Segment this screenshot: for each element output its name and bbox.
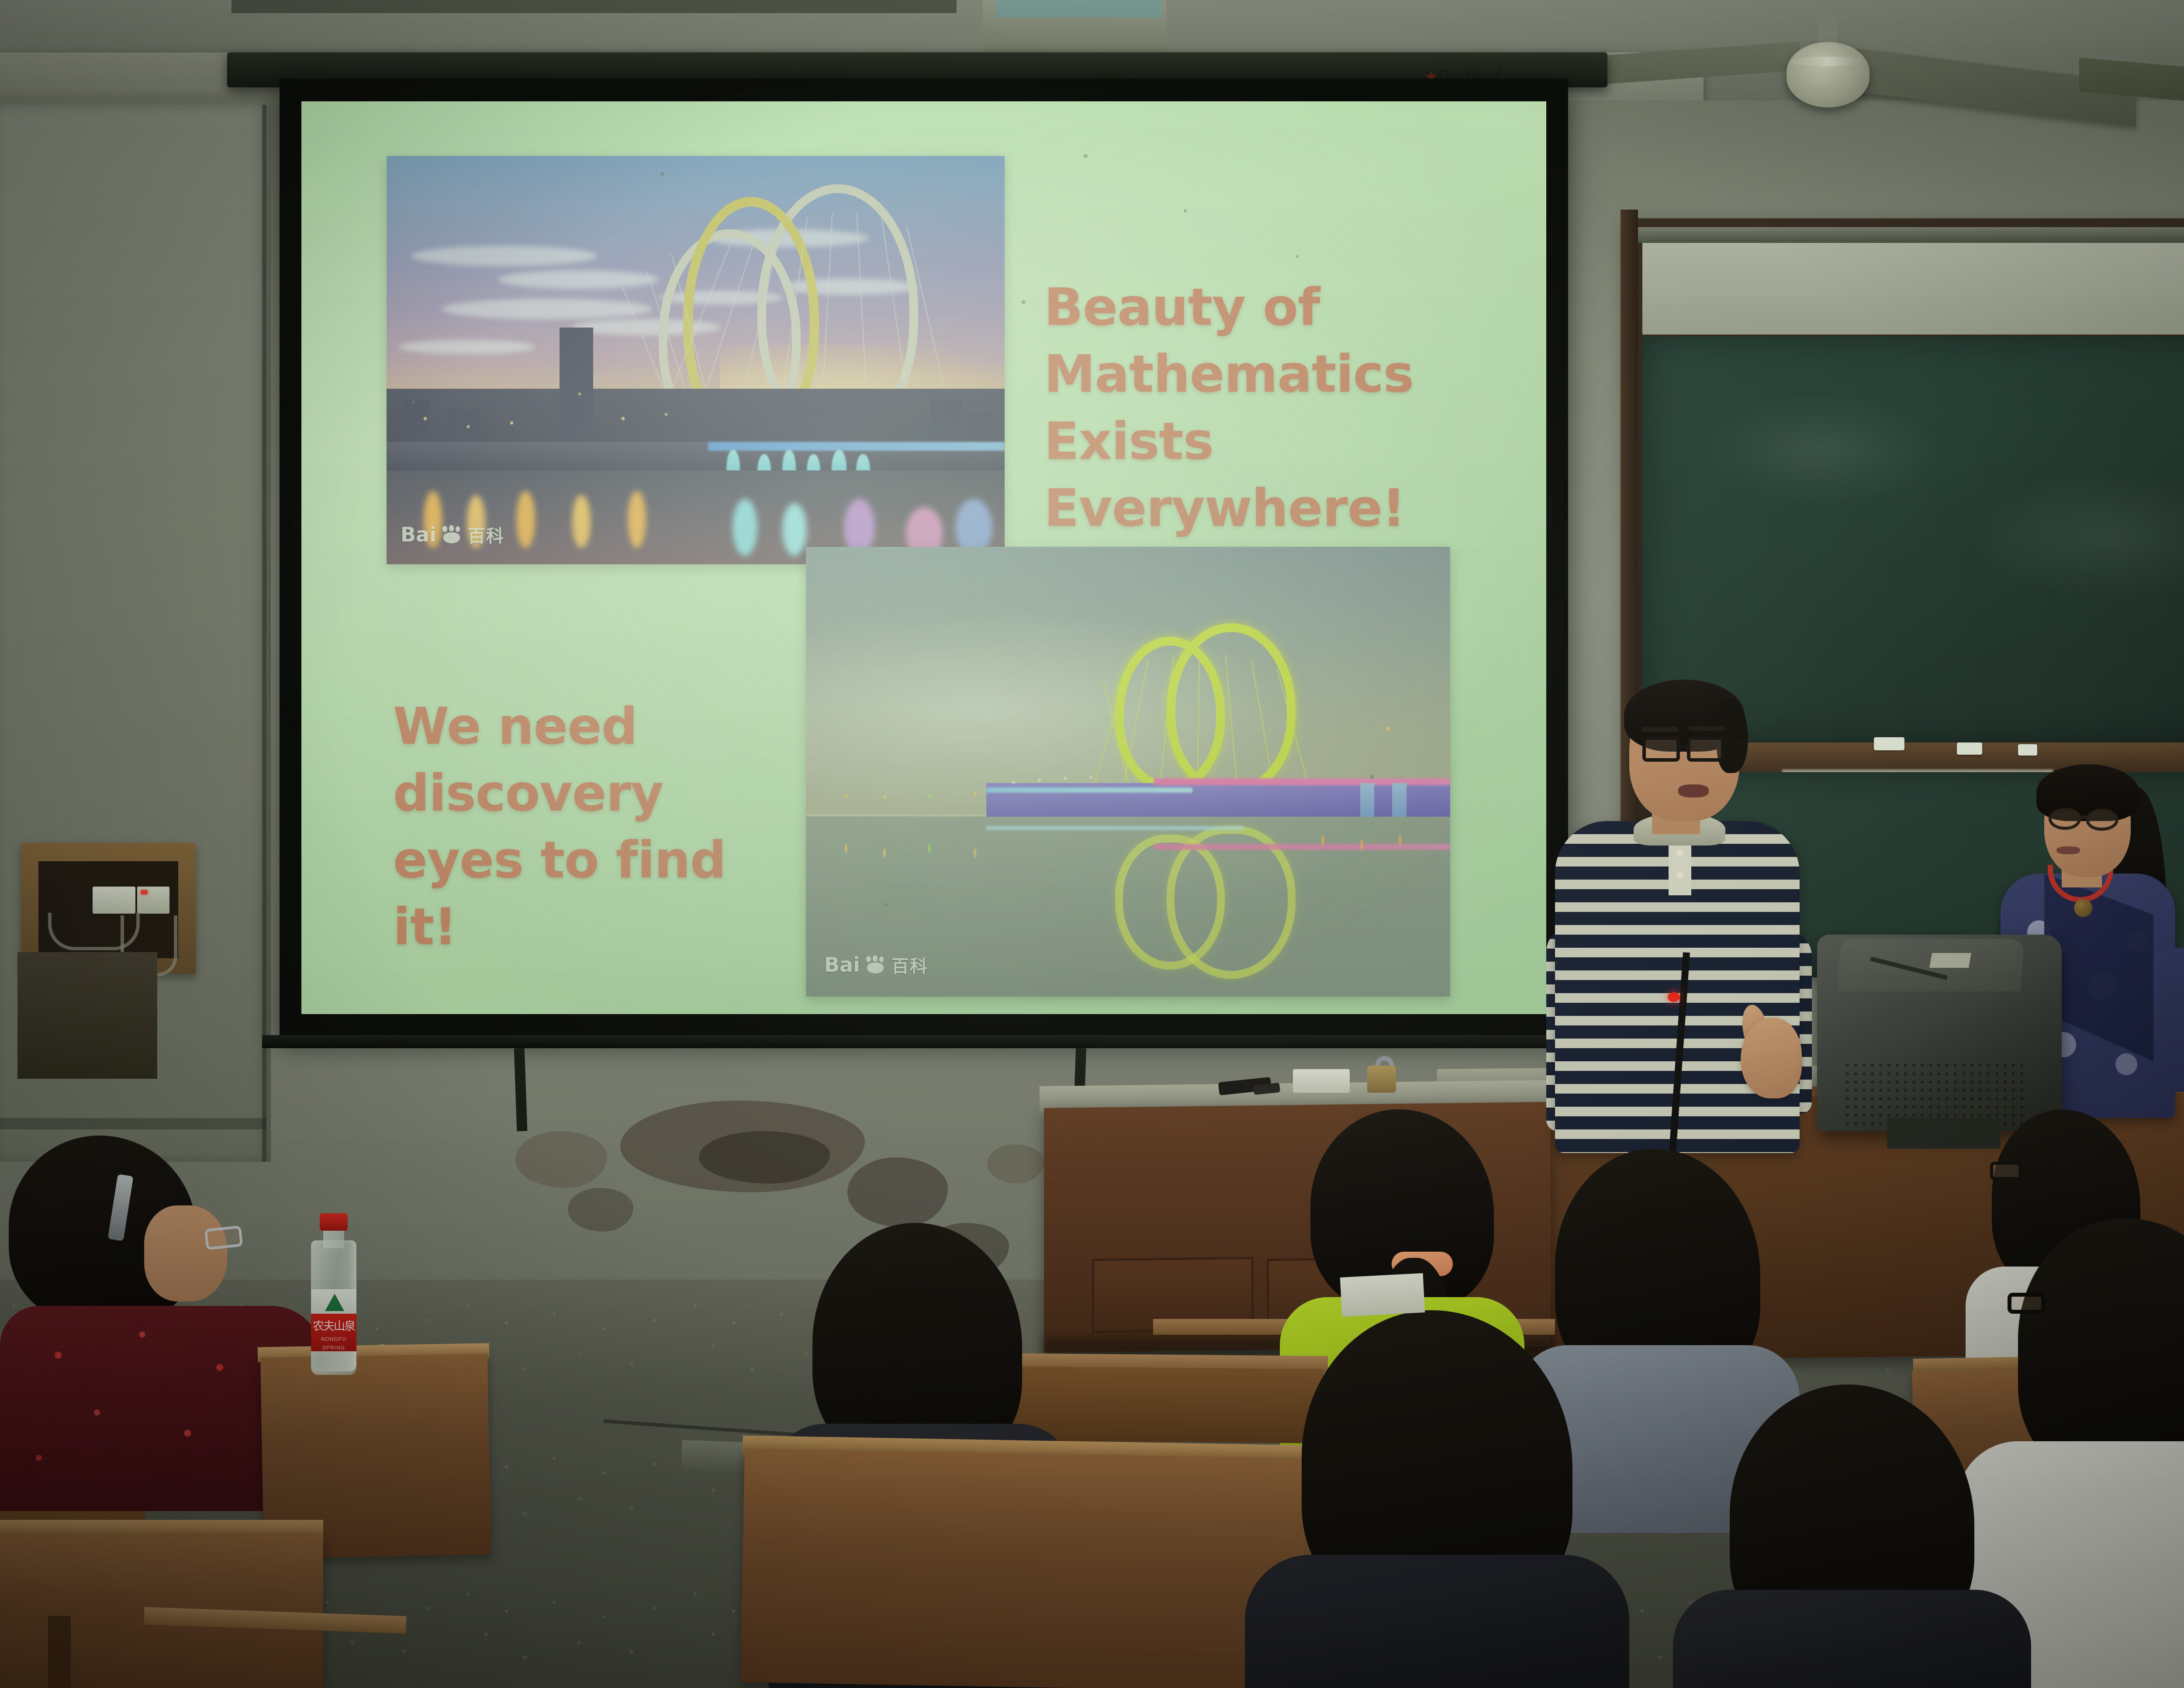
- water-reflection: [424, 491, 442, 548]
- skyline-building: [968, 413, 992, 450]
- bridge-arch-yellow: [683, 197, 819, 442]
- cable-stay: [671, 254, 718, 436]
- polo-button: [1676, 849, 1683, 856]
- slide-subtitle: We need discovery eyes to find it!: [393, 693, 738, 960]
- ceiling-duct-accent: [996, 0, 1162, 17]
- electrical-panel-lower: [17, 952, 157, 1079]
- deck-pink-light: [1154, 778, 1451, 785]
- deck-reflection: [986, 826, 1244, 830]
- glasses-lens-left: [2049, 808, 2081, 830]
- water-reflection: [974, 848, 976, 858]
- chalk-smudge: [1699, 393, 1944, 507]
- bridge-loop-right: [1167, 623, 1296, 794]
- standing-woman-arm: [2153, 948, 2184, 1092]
- photo2-horizon: [806, 815, 1450, 816]
- water-reflection: [572, 495, 591, 548]
- slide-title-line: Beauty of: [1044, 274, 1489, 341]
- slide-photo-dusk-bridge: Bai 百科: [387, 156, 1005, 564]
- switch-indicator-led: [141, 890, 148, 894]
- glasses-bridge: [1680, 745, 1688, 749]
- cable-stay: [1121, 659, 1149, 796]
- water-reflection: [844, 499, 875, 556]
- deck-light: [1089, 776, 1092, 779]
- presenter-eyebrow-left: [1641, 727, 1678, 732]
- cable-stay: [1196, 650, 1200, 799]
- ceiling-fan-ring: [1790, 57, 1866, 66]
- peeling-plaster-patch: [568, 1188, 633, 1232]
- chalk-piece[interactable]: [1874, 737, 1904, 750]
- bridge-loop-left: [1115, 637, 1225, 790]
- water-reflection: [1321, 835, 1324, 846]
- chalk-piece[interactable]: [2018, 744, 2037, 756]
- crt-monitor-vent: [1843, 1061, 2027, 1127]
- power-socket[interactable]: [93, 887, 135, 914]
- glasses-lens-right: [1687, 736, 1724, 762]
- standing-woman-mouth: [2056, 846, 2080, 854]
- cable-stay: [646, 270, 700, 433]
- paper-on-floor: [1340, 1273, 1425, 1317]
- bridge-loop-reflection: [1167, 826, 1296, 979]
- paw-icon: [441, 525, 463, 544]
- cable-stay: [1091, 663, 1129, 794]
- bridge-pylon: [1392, 783, 1406, 817]
- photo1-skyline: [387, 389, 1005, 479]
- city-light: [622, 417, 625, 420]
- slide-dust-specks: [301, 101, 1546, 1014]
- cable-stay: [1225, 655, 1239, 798]
- deck-light: [1038, 779, 1041, 782]
- cable-stay: [906, 225, 958, 445]
- pier-uplight: [856, 454, 870, 491]
- wall-corner-edge: [262, 105, 266, 1162]
- bridge-deck-lights: [708, 442, 1005, 451]
- wall-ledge: [0, 1118, 266, 1129]
- slide-title-line: Mathematics: [1044, 341, 1489, 407]
- peeling-plaster-patch: [987, 1144, 1044, 1184]
- desk-leg: [48, 1616, 71, 1688]
- cable-stay: [653, 237, 734, 435]
- water-reflection: [516, 491, 535, 548]
- baidu-watermark: Bai 百科: [401, 522, 505, 547]
- deck-blue-light: [986, 787, 1192, 793]
- bottle-cap[interactable]: [320, 1213, 348, 1231]
- bridge-deck: [986, 783, 1450, 817]
- cloud: [399, 340, 535, 355]
- left-woman-glasses: [204, 1225, 243, 1250]
- bridge-arch-white: [659, 229, 801, 446]
- shore-light: [883, 796, 886, 799]
- skyline-tower: [560, 328, 593, 450]
- projector-screen-bottom-bar: [262, 1035, 1586, 1048]
- student-dark-top: [1245, 1555, 1629, 1688]
- cloud: [708, 229, 869, 247]
- cloud: [442, 299, 652, 319]
- slide-title: Beauty of Mathematics Exists Everywhere!: [1044, 274, 1489, 542]
- water-reflection: [1360, 839, 1363, 851]
- necklace-pendant: [2074, 899, 2092, 917]
- photo2-haze: [806, 610, 1309, 808]
- deck-pink-reflection: [1154, 844, 1451, 850]
- baidu-latin-text: Bai: [824, 953, 860, 977]
- baidu-watermark: Bai 百科: [824, 952, 928, 977]
- crt-monitor-label: [1929, 953, 1971, 968]
- student-dark-top: [1673, 1590, 2031, 1688]
- cable-stay: [689, 229, 759, 439]
- cable-stay: [881, 217, 915, 448]
- ceiling-dark-strip: [232, 0, 957, 13]
- city-light: [467, 425, 470, 428]
- cloud: [498, 270, 659, 289]
- deck-light: [1064, 777, 1067, 780]
- water-reflection: [955, 499, 992, 556]
- presenter-mouth: [1678, 784, 1709, 797]
- polo-button: [1676, 872, 1683, 879]
- shore-light: [974, 792, 977, 795]
- bridge-pylon: [1360, 783, 1374, 817]
- pier-uplight: [832, 450, 847, 491]
- chalk-box[interactable]: [1293, 1069, 1350, 1093]
- cable-stay: [774, 217, 808, 448]
- cable-stay: [731, 221, 784, 444]
- cloud: [659, 291, 782, 305]
- cable-stay: [1251, 659, 1276, 797]
- cable-stay: [819, 213, 833, 450]
- water-reflection: [906, 507, 943, 560]
- shore-light: [845, 794, 848, 797]
- cable-stay: [622, 287, 681, 431]
- padlock[interactable]: [1367, 1066, 1396, 1093]
- baidu-latin-text: Bai: [401, 523, 436, 546]
- bridge-arch-white-large: [757, 184, 918, 438]
- baidu-chinese-text: 百科: [892, 952, 928, 977]
- skyline-building: [449, 409, 480, 450]
- cable-stay: [1158, 655, 1174, 798]
- slide-subtitle-line: eyes to find it!: [393, 827, 738, 960]
- projected-slide[interactable]: Bai 百科: [301, 101, 1546, 1014]
- glasses-bridge: [2079, 816, 2088, 819]
- deck-light: [1012, 781, 1015, 784]
- presenter-hand: [1741, 1018, 1802, 1098]
- pier-uplight: [807, 454, 820, 491]
- peeling-plaster-patch: [515, 1131, 607, 1188]
- cable-stay: [1102, 682, 1132, 796]
- student-glasses: [1990, 1162, 2022, 1180]
- classroom-photo-scene: 课堂教学要求： 各位同学请 Redleaf: [0, 0, 2184, 1688]
- city-light: [665, 413, 667, 416]
- bottle-brand-english: NONGFU SPRING: [311, 1335, 356, 1343]
- street-light: [1386, 727, 1390, 731]
- paw-icon: [864, 955, 887, 974]
- city-light: [424, 417, 427, 420]
- cloud: [411, 246, 597, 266]
- slide-subtitle-line: discovery: [393, 760, 738, 827]
- bridge-deck: [387, 442, 1005, 470]
- photo1-water: [387, 470, 1005, 564]
- cable-stay: [856, 213, 870, 450]
- pier-uplight: [757, 454, 771, 491]
- water-reflection: [1399, 835, 1402, 846]
- water-reflection: [467, 495, 485, 548]
- student-glasses: [2008, 1293, 2045, 1314]
- bottle-brand-chinese: 农夫山泉: [311, 1319, 356, 1334]
- water-reflection: [928, 844, 931, 853]
- cable-stay: [1276, 668, 1311, 794]
- presenter-eyebrow-right: [1689, 726, 1725, 731]
- water-reflection: [883, 848, 886, 858]
- pier-uplight: [726, 450, 740, 491]
- chalkboard-top-rail: [1634, 227, 2184, 243]
- chalkboard-upper-gap: [1642, 243, 2184, 335]
- cloud: [782, 279, 918, 295]
- photo2-sky: [806, 547, 1450, 817]
- left-woman-face: [144, 1205, 227, 1301]
- water-reflection: [782, 503, 807, 556]
- water-reflection: [845, 844, 847, 853]
- pier-uplight: [782, 450, 796, 491]
- cloud: [572, 319, 721, 335]
- crt-monitor-base: [1887, 1118, 2001, 1149]
- photo1-sky: [387, 156, 1005, 450]
- city-light: [510, 421, 513, 425]
- chalk-piece[interactable]: [1957, 742, 1982, 755]
- ceiling-fan-motor: [1787, 42, 1870, 107]
- skyline-building: [405, 401, 430, 450]
- skyline-building: [930, 401, 961, 450]
- glasses-lens-right: [2086, 809, 2118, 831]
- shore-light: [928, 794, 931, 797]
- microphone-indicator-led: [1668, 992, 1680, 1002]
- photo1-sunset-glow: [720, 344, 1005, 450]
- chalk-smudge: [1974, 472, 2184, 603]
- slide-subtitle-line: We need: [393, 693, 738, 760]
- slide-photo-night-bridge: Bai 百科: [806, 547, 1450, 997]
- water-reflection: [628, 491, 646, 548]
- glasses-lens-left: [1642, 736, 1680, 762]
- slide-title-line: Exists Everywhere!: [1044, 408, 1489, 542]
- water-reflection: [733, 499, 757, 556]
- photo2-water: [806, 817, 1450, 997]
- city-light: [578, 393, 581, 395]
- bridge-loop-reflection: [1115, 835, 1225, 970]
- baidu-chinese-text: 百科: [468, 522, 505, 547]
